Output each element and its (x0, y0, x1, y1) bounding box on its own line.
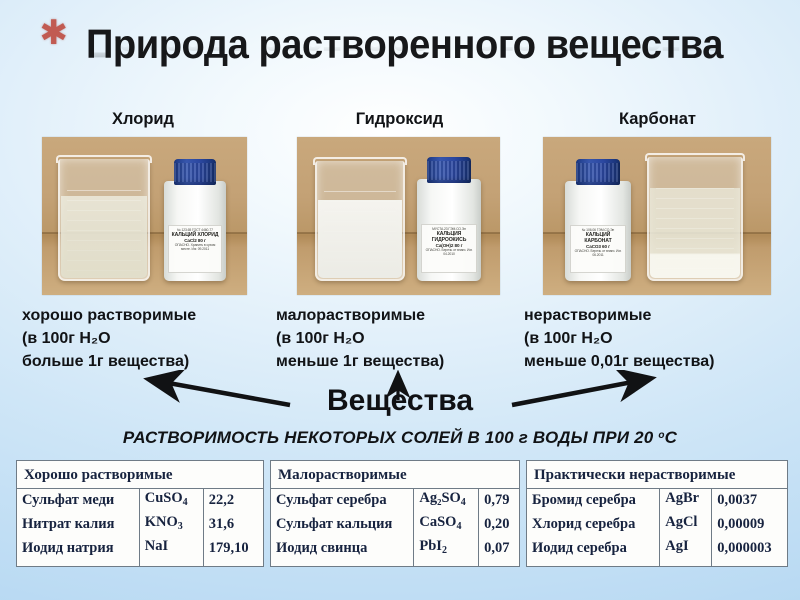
bottle-calcium-carbonate: № 106.06 ГЭМ.СО.Эн КАЛЬЦИЙ КАРБОНАТ CaCO… (565, 181, 631, 281)
spacer-cell (414, 561, 479, 566)
cell-formula: AgI (660, 537, 712, 561)
table-row-spacer (527, 561, 787, 566)
cell-formula: NaI (139, 537, 203, 561)
bottle-label-name: КАЛЬЦИЯ ГИДРООКИСЬ (423, 231, 474, 243)
cell-value: 179,10 (203, 537, 263, 561)
bottle-label-footer: ОПАСНО. Беречь от влаги. Изг. 06.2011 (572, 249, 625, 257)
bottle-cap (427, 157, 471, 183)
column-header-line1: Хлорид (112, 110, 174, 128)
center-label-substances: Вещества (0, 384, 800, 418)
bottle-cap (174, 159, 216, 185)
spacer-cell (17, 561, 139, 566)
table-row: Хлорид серебра AgCl 0,00009 (527, 513, 787, 537)
cell-formula: KNO3 (139, 513, 203, 537)
title-reflection: Природа растворенного вещества (85, 43, 722, 65)
table-row: Сульфат серебра Ag₂SO4 0,79 (271, 489, 519, 513)
table-body: Бромид серебра AgBr 0,0037 Хлорид серебр… (527, 489, 787, 566)
cell-name: Иодид натрия (17, 537, 139, 561)
cell-name: Иодид серебра (527, 537, 660, 561)
cell-value: 22,2 (203, 489, 263, 513)
cell-name: Сульфат кальция (271, 513, 414, 537)
spacer-cell (139, 561, 203, 566)
cell-formula: PbI2 (414, 537, 479, 561)
beaker-liquid (650, 188, 740, 278)
description-slightly-soluble: малорастворимые (в 100г H₂O меньше 1г ве… (276, 304, 541, 373)
table-row: Сульфат меди CuSO4 22,2 (17, 489, 263, 513)
bottle-label-formula: CaCO3 (586, 244, 601, 249)
column-header-line1: Карбонат (619, 110, 696, 128)
bottle-label: № 123.65 ГОСТ 4460-77 КАЛЬЦИЙ ХЛОРИД CaC… (168, 225, 221, 273)
table-header: Хорошо растворимые (17, 461, 263, 489)
spacer-cell (712, 561, 787, 566)
cell-formula: CuSO4 (139, 489, 203, 513)
cell-value: 0,000003 (712, 537, 787, 561)
table-row-spacer (271, 561, 519, 566)
bottle-label-mass: 80 г (198, 238, 206, 243)
cell-value: 0,07 (479, 537, 519, 561)
formula-text: CaSO (419, 514, 456, 530)
bottle-label-name: КАЛЬЦИЙ КАРБОНАТ (572, 232, 625, 244)
bottle-label: МУСТА.23 ГЭМ.СО.Эн КАЛЬЦИЯ ГИДРООКИСЬ Ca… (421, 224, 476, 273)
bottle-label-footer: ОПАСНО. Хранить в сухом месте. Изг. 09.2… (170, 243, 219, 251)
table-row: Иодид натрия NaI 179,10 (17, 537, 263, 561)
beaker-clear-solution (58, 159, 150, 281)
cell-formula: Ag₂SO4 (414, 489, 479, 513)
bottle-label-footer: ОПАСНО. Беречь от влаги. Изг. 04.2010 (423, 248, 474, 256)
formula-text: AgI (665, 538, 688, 554)
formula-subscript: 4 (461, 497, 466, 508)
cell-name: Бромид серебра (527, 489, 660, 513)
bottle-label-mass: 80 г (454, 243, 462, 248)
cell-value: 31,6 (203, 513, 263, 537)
table-row: Иодид серебра AgI 0,000003 (527, 537, 787, 561)
cell-formula: CaSO4 (414, 513, 479, 537)
formula-text: AgBr (665, 490, 699, 506)
slide-canvas: ✱ Природа растворенного вещества Природа… (0, 0, 800, 600)
cell-name: Сульфат серебра (271, 489, 414, 513)
table-row: Сульфат кальция CaSO4 0,20 (271, 513, 519, 537)
cell-value: 0,79 (479, 489, 519, 513)
beaker-liquid (318, 200, 402, 278)
formula-subscript: 4 (456, 521, 461, 532)
table-slightly-soluble: Малорастворимые Сульфат серебра Ag₂SO4 0… (270, 460, 520, 567)
table-soluble: Хорошо растворимые Сульфат меди CuSO4 22… (16, 460, 264, 567)
spacer-cell (479, 561, 519, 566)
spacer-cell (203, 561, 263, 566)
cell-value: 0,20 (479, 513, 519, 537)
bottle-label-mass: 60 г (602, 244, 610, 249)
photo-calcium-carbonate: № 106.06 ГЭМ.СО.Эн КАЛЬЦИЙ КАРБОНАТ CaCO… (543, 137, 771, 295)
cell-value: 0,0037 (712, 489, 787, 513)
formula-subscript: 2 (442, 545, 447, 556)
formula-text: NaI (145, 538, 168, 554)
table-practically-insoluble: Практически нерастворимые Бромид серебра… (526, 460, 788, 567)
column-header-line1: Гидроксид (356, 110, 444, 128)
beaker-clear-with-sediment (647, 157, 743, 281)
photo-calcium-hydroxide: МУСТА.23 ГЭМ.СО.Эн КАЛЬЦИЯ ГИДРООКИСЬ Ca… (297, 137, 500, 295)
formula-text: CuSO (145, 490, 183, 506)
subtitle-main-text: РАСТВОРИМОСТЬ НЕКОТОРЫХ СОЛЕЙ В 100 г ВО… (123, 428, 659, 447)
table-row: Бромид серебра AgBr 0,0037 (527, 489, 787, 513)
bottle-label: № 106.06 ГЭМ.СО.Эн КАЛЬЦИЙ КАРБОНАТ CaCO… (570, 225, 627, 273)
beaker-milky-suspension (315, 161, 405, 281)
photo-calcium-chloride: № 123.65 ГОСТ 4460-77 КАЛЬЦИЙ ХЛОРИД CaC… (42, 137, 247, 295)
table-row-spacer (17, 561, 263, 566)
bottle-cap (576, 159, 621, 185)
spacer-cell (660, 561, 712, 566)
star-icon: ✱ (40, 16, 69, 50)
cell-name: Хлорид серебра (527, 513, 660, 537)
formula-text: KNO (145, 514, 178, 530)
formula-subscript: 3 (178, 521, 183, 532)
cell-value: 0,00009 (712, 513, 787, 537)
page-title: ✱ Природа растворенного вещества Природа… (0, 22, 800, 92)
table-header: Практически нерастворимые (527, 461, 787, 489)
description-insoluble: нерастворимые (в 100г H₂O меньше 0,01г в… (524, 304, 796, 373)
spacer-cell (271, 561, 414, 566)
formula-subscript: 4 (183, 497, 188, 508)
cell-name: Иодид свинца (271, 537, 414, 561)
beaker-liquid (61, 196, 147, 278)
subtitle-solubility: РАСТВОРИМОСТЬ НЕКОТОРЫХ СОЛЕЙ В 100 г ВО… (0, 428, 800, 448)
bottle-label-formula: CaCl2 (184, 238, 197, 243)
table-body: Сульфат серебра Ag₂SO4 0,79 Сульфат каль… (271, 489, 519, 566)
table-row: Нитрат калия KNO3 31,6 (17, 513, 263, 537)
bottle-label-formula: Ca(OH)2 (436, 243, 454, 248)
table-header: Малорастворимые (271, 461, 519, 489)
bottle-calcium-hydroxide: МУСТА.23 ГЭМ.СО.Эн КАЛЬЦИЯ ГИДРООКИСЬ Ca… (417, 179, 481, 281)
formula-text: PbI (419, 538, 442, 554)
spacer-cell (527, 561, 660, 566)
cell-formula: AgCl (660, 513, 712, 537)
cell-name: Нитрат калия (17, 513, 139, 537)
subtitle-celsius: С (665, 428, 677, 447)
formula-text: AgCl (665, 514, 697, 530)
title-row: ✱ Природа растворенного вещества Природа… (54, 22, 747, 87)
table-body: Сульфат меди CuSO4 22,2 Нитрат калия KNO… (17, 489, 263, 566)
formula-text: Ag₂SO (419, 490, 460, 506)
table-row: Иодид свинца PbI2 0,07 (271, 537, 519, 561)
cell-formula: AgBr (660, 489, 712, 513)
bottle-calcium-chloride: № 123.65 ГОСТ 4460-77 КАЛЬЦИЙ ХЛОРИД CaC… (164, 181, 226, 281)
description-soluble: хорошо растворимые (в 100г H₂O больше 1г… (22, 304, 287, 373)
cell-name: Сульфат меди (17, 489, 139, 513)
